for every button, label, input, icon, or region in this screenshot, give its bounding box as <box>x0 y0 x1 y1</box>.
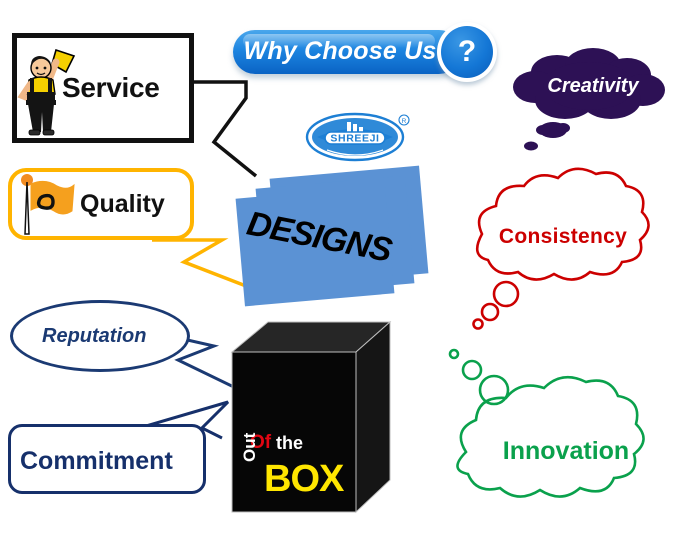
cube-word-box: BOX <box>264 458 343 501</box>
creativity-thought-cloud[interactable]: Creativity <box>505 42 675 152</box>
innovation-cloud-shape <box>424 334 676 522</box>
consistency-label: Consistency <box>478 225 648 249</box>
infographic-canvas: Why Choose Us ? Service Qual <box>0 0 681 551</box>
cube-word-out: Out <box>240 433 260 462</box>
shreeji-logo[interactable]: SHREEJI R <box>303 110 413 164</box>
quality-flag-icon <box>14 172 76 240</box>
reputation-label: Reputation <box>42 325 146 348</box>
innovation-thought-cloud[interactable]: Innovation <box>424 334 674 519</box>
innovation-label: Innovation <box>476 437 656 466</box>
why-choose-us-badge[interactable]: Why Choose Us ? <box>233 22 511 88</box>
service-label: Service <box>62 72 160 104</box>
question-mark-icon: ? <box>441 26 493 78</box>
quality-label: Quality <box>80 190 165 219</box>
out-of-the-box-cube[interactable]: Of the Out BOX <box>232 322 392 512</box>
shreeji-wordmark: SHREEJI <box>330 133 379 145</box>
cube-word-the: the <box>276 433 303 454</box>
registered-mark-icon: R <box>402 118 407 125</box>
creativity-cloud-shape <box>505 42 675 154</box>
designs-card-stack[interactable]: DESIGNS <box>230 168 430 318</box>
consistency-thought-cloud[interactable]: Consistency <box>448 172 676 332</box>
consistency-cloud-shape <box>448 172 676 334</box>
why-choose-us-label: Why Choose Us <box>233 30 447 74</box>
commitment-label: Commitment <box>20 447 173 476</box>
creativity-label: Creativity <box>533 75 653 98</box>
